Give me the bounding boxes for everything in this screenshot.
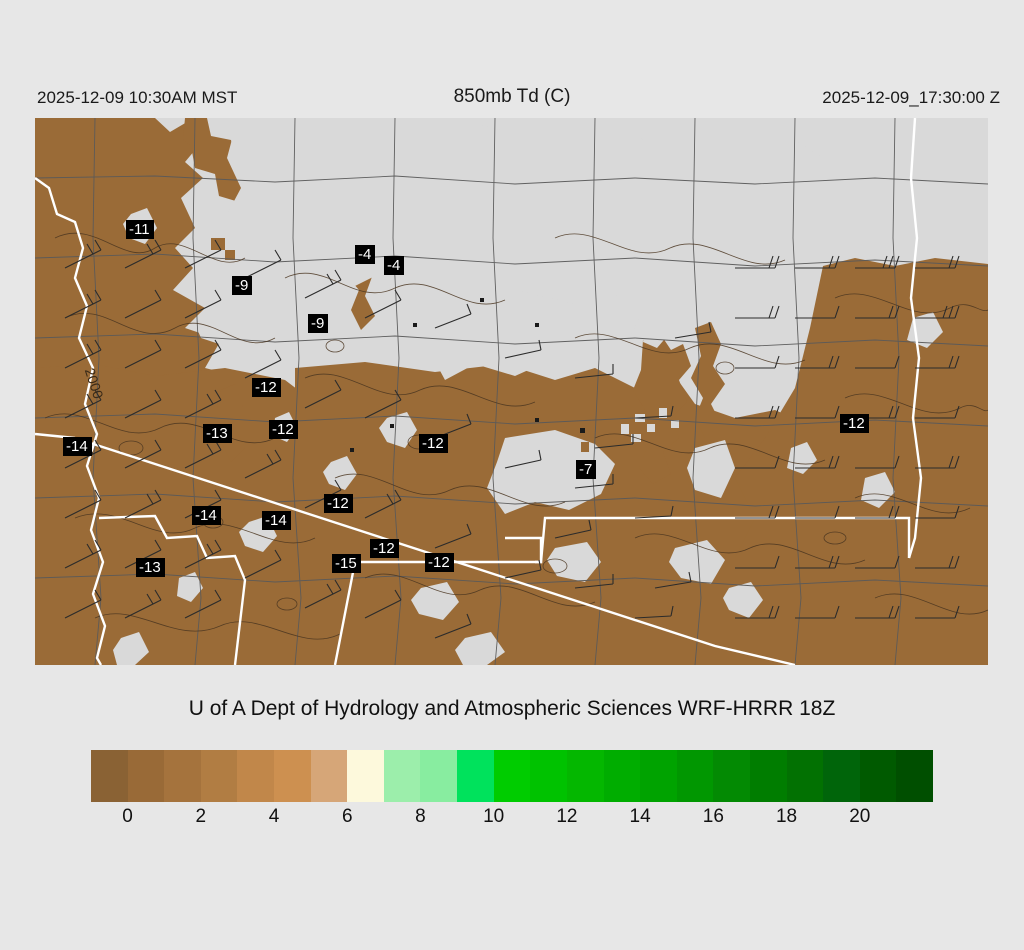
- colorbar-band-8: [384, 750, 421, 802]
- colorbar-band-0: [91, 750, 128, 802]
- station-label: -12: [425, 553, 454, 572]
- colorbar-band-19: [787, 750, 824, 802]
- station-label: -12: [840, 414, 869, 433]
- colorbar-tick-16: 16: [703, 806, 724, 828]
- station-label: -12: [419, 434, 448, 453]
- valid-time-label: 2025-12-09_17:30:00 Z: [822, 88, 1000, 108]
- map-graphic: [35, 118, 988, 665]
- station-label: -12: [269, 420, 298, 439]
- colorbar-band-9: [420, 750, 457, 802]
- weather-map-page: 2025-12-09 10:30AM MST 850mb Td (C) 2025…: [0, 0, 1024, 950]
- colorbar-tick-labels: 02468101214161820: [91, 806, 933, 834]
- station-label: -14: [262, 511, 291, 530]
- colorbar-band-10: [457, 750, 494, 802]
- colorbar-tick-0: 0: [122, 806, 133, 828]
- colorbar-band-12: [530, 750, 567, 802]
- station-label: -13: [136, 558, 165, 577]
- colorbar-tick-18: 18: [776, 806, 797, 828]
- station-label: -9: [232, 276, 252, 295]
- colorbar-band-4: [237, 750, 274, 802]
- colorbar-band-11: [494, 750, 531, 802]
- colorbar-tick-4: 4: [269, 806, 280, 828]
- station-label: -11: [126, 220, 154, 239]
- colorbar-tick-8: 8: [415, 806, 426, 828]
- colorbar-band-5: [274, 750, 311, 802]
- station-label: -9: [308, 314, 328, 333]
- colorbar-band-17: [713, 750, 750, 802]
- colorbar-band-15: [640, 750, 677, 802]
- colorbar-band-20: [823, 750, 860, 802]
- colorbar-band-7: [347, 750, 384, 802]
- map-canvas[interactable]: 2000 -11 -4 -4 -9 -9 -12 -13 -12 -12 -14…: [35, 118, 988, 665]
- colorbar-band-2: [164, 750, 201, 802]
- colorbar-tick-20: 20: [849, 806, 870, 828]
- colorbar-band-6: [311, 750, 348, 802]
- colorbar-band-13: [567, 750, 604, 802]
- colorbar-strip: [91, 750, 933, 802]
- station-label: -12: [252, 378, 281, 397]
- colorbar-tick-10: 10: [483, 806, 504, 828]
- colorbar-band-14: [604, 750, 641, 802]
- colorbar-tick-2: 2: [196, 806, 207, 828]
- colorbar-tick-12: 12: [556, 806, 577, 828]
- station-label: -13: [203, 424, 232, 443]
- station-label: -14: [192, 506, 221, 525]
- colorbar-tick-14: 14: [630, 806, 651, 828]
- colorbar-band-1: [128, 750, 165, 802]
- station-label: -4: [355, 245, 375, 264]
- colorbar-band-3: [201, 750, 238, 802]
- colorbar-band-21: [860, 750, 897, 802]
- colorbar-tick-6: 6: [342, 806, 353, 828]
- station-label: -12: [324, 494, 353, 513]
- source-caption: U of A Dept of Hydrology and Atmospheric…: [0, 697, 1024, 721]
- station-label: -4: [384, 256, 404, 275]
- colorbar[interactable]: [91, 750, 933, 802]
- colorbar-band-22: [896, 750, 933, 802]
- colorbar-band-18: [750, 750, 787, 802]
- header-bar: 2025-12-09 10:30AM MST 850mb Td (C) 2025…: [0, 88, 1024, 112]
- station-label: -7: [576, 460, 596, 479]
- station-label: -15: [332, 554, 361, 573]
- colorbar-band-16: [677, 750, 714, 802]
- station-label: -14: [63, 437, 92, 456]
- station-label: -12: [370, 539, 399, 558]
